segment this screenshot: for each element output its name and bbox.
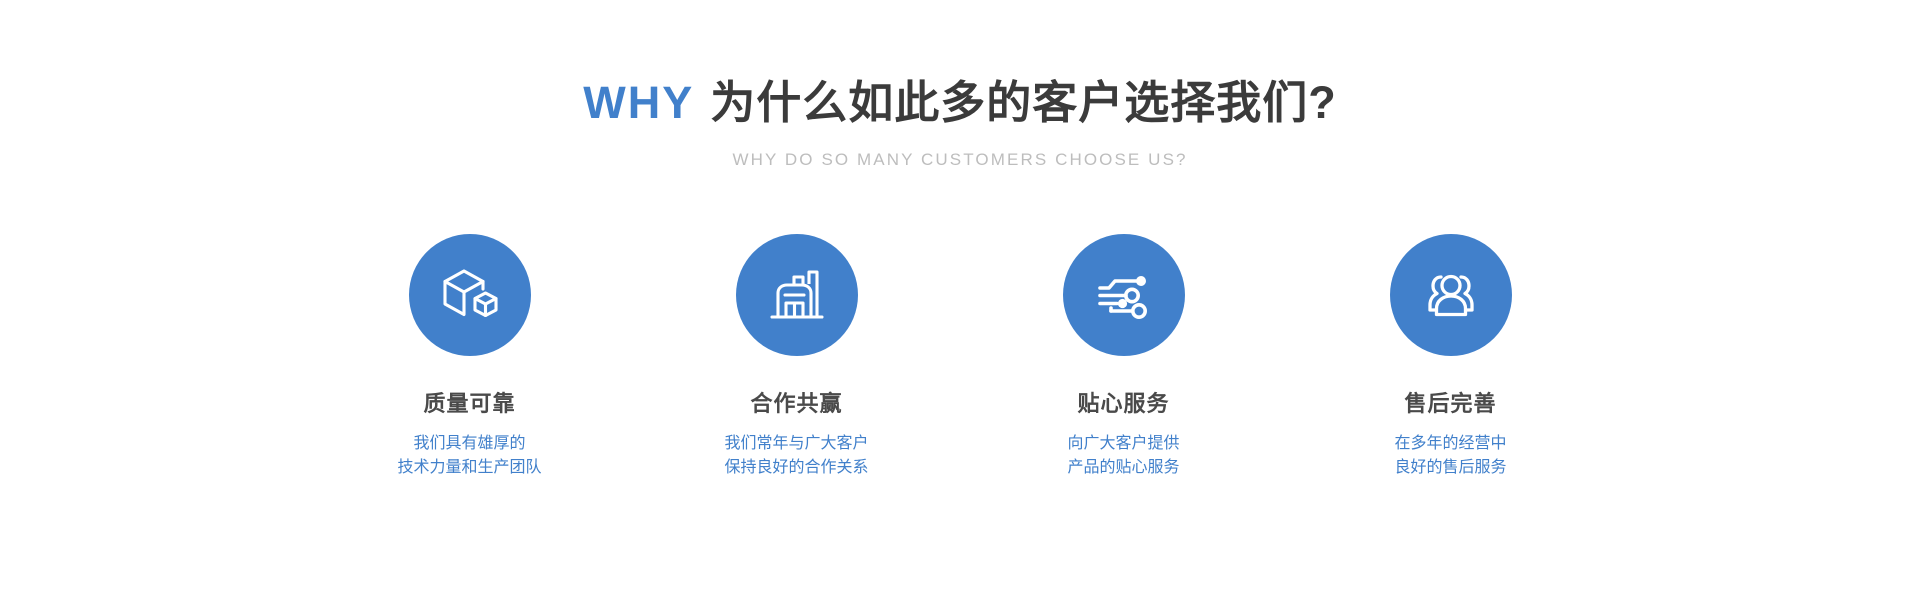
title-prefix-why: WHY — [583, 77, 694, 128]
page-subtitle: WHY DO SO MANY CUSTOMERS CHOOSE US? — [0, 150, 1920, 170]
feature-item-quality[interactable]: 质量可靠 我们具有雄厚的 技术力量和生产团队 — [409, 234, 531, 482]
feature-description: 在多年的经营中 良好的售后服务 — [1394, 432, 1506, 482]
page-title: WHY为什么如此多的客户选择我们? — [0, 78, 1920, 128]
feature-icon-circle — [1390, 234, 1512, 356]
feature-icon-circle — [1063, 234, 1185, 356]
feature-title: 售后完善 — [1404, 386, 1496, 418]
users-group-icon — [1418, 262, 1484, 328]
circuit-nodes-icon — [1091, 262, 1157, 328]
feature-desc-line-1: 我们常年与广大客户 — [725, 432, 869, 457]
package-box-icon — [437, 262, 503, 328]
feature-item-service[interactable]: 贴心服务 向广大客户提供 产品的贴心服务 — [1063, 234, 1185, 482]
feature-title: 合作共赢 — [750, 386, 842, 418]
feature-desc-line-1: 在多年的经营中 — [1394, 432, 1506, 457]
feature-item-after-sales[interactable]: 售后完善 在多年的经营中 良好的售后服务 — [1390, 234, 1512, 482]
feature-description: 我们常年与广大客户 保持良好的合作关系 — [725, 432, 869, 482]
feature-title: 质量可靠 — [423, 386, 515, 418]
why-choose-us-section: WHY为什么如此多的客户选择我们? WHY DO SO MANY CUSTOME… — [0, 0, 1920, 615]
feature-title: 贴心服务 — [1077, 386, 1169, 418]
feature-description: 向广大客户提供 产品的贴心服务 — [1067, 432, 1179, 482]
title-chinese: 为什么如此多的客户选择我们? — [710, 77, 1337, 128]
heading-block: WHY为什么如此多的客户选择我们? WHY DO SO MANY CUSTOME… — [0, 78, 1920, 170]
feature-desc-line-1: 我们具有雄厚的 — [398, 432, 542, 457]
feature-desc-line-2: 产品的贴心服务 — [1067, 456, 1179, 481]
feature-list: 质量可靠 我们具有雄厚的 技术力量和生产团队 — [409, 234, 1512, 482]
feature-item-cooperation[interactable]: 合作共赢 我们常年与广大客户 保持良好的合作关系 — [736, 234, 858, 482]
factory-icon — [764, 262, 830, 328]
feature-desc-line-1: 向广大客户提供 — [1067, 432, 1179, 457]
feature-desc-line-2: 保持良好的合作关系 — [725, 456, 869, 481]
feature-description: 我们具有雄厚的 技术力量和生产团队 — [398, 432, 542, 482]
feature-desc-line-2: 技术力量和生产团队 — [398, 456, 542, 481]
feature-desc-line-2: 良好的售后服务 — [1394, 456, 1506, 481]
feature-icon-circle — [409, 234, 531, 356]
feature-icon-circle — [736, 234, 858, 356]
